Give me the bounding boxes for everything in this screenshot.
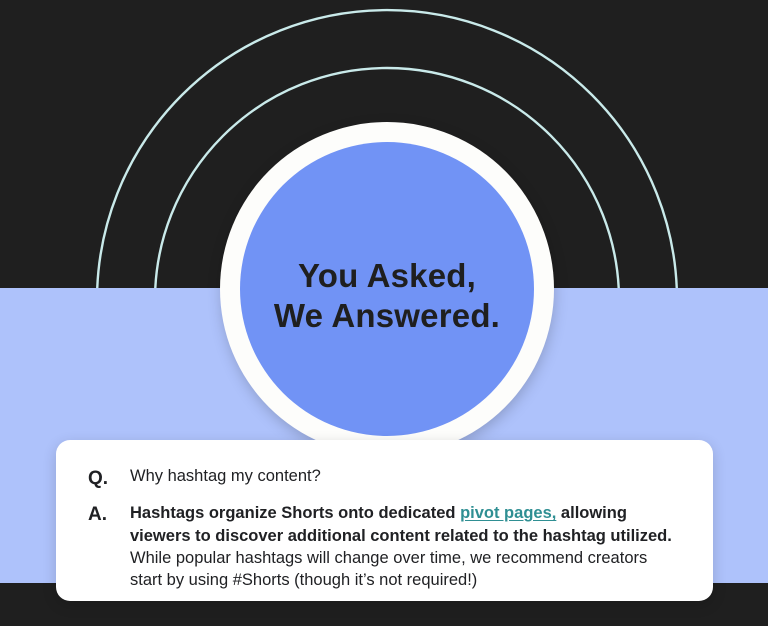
answer-text: Hashtags organize Shorts onto dedicated … [130,502,679,592]
hero-circle: You Asked, We Answered. [240,142,534,436]
faq-answer-row: A. Hashtags organize Shorts onto dedicat… [86,502,679,592]
answer-marker: A. [86,502,130,527]
hero-title: You Asked, We Answered. [274,242,500,337]
answer-tail-text: While popular hashtags will change over … [130,549,647,589]
faq-card: Q. Why hashtag my content? A. Hashtags o… [56,440,713,601]
question-marker: Q. [86,466,130,491]
answer-lead-before-link: Hashtags organize Shorts onto dedicated [130,504,460,522]
pivot-pages-link[interactable]: pivot pages, [460,504,556,522]
poster-canvas: You Asked, We Answered. Q. Why hashtag m… [0,0,768,626]
question-text: Why hashtag my content? [130,466,321,488]
faq-question-row: Q. Why hashtag my content? [86,466,679,491]
